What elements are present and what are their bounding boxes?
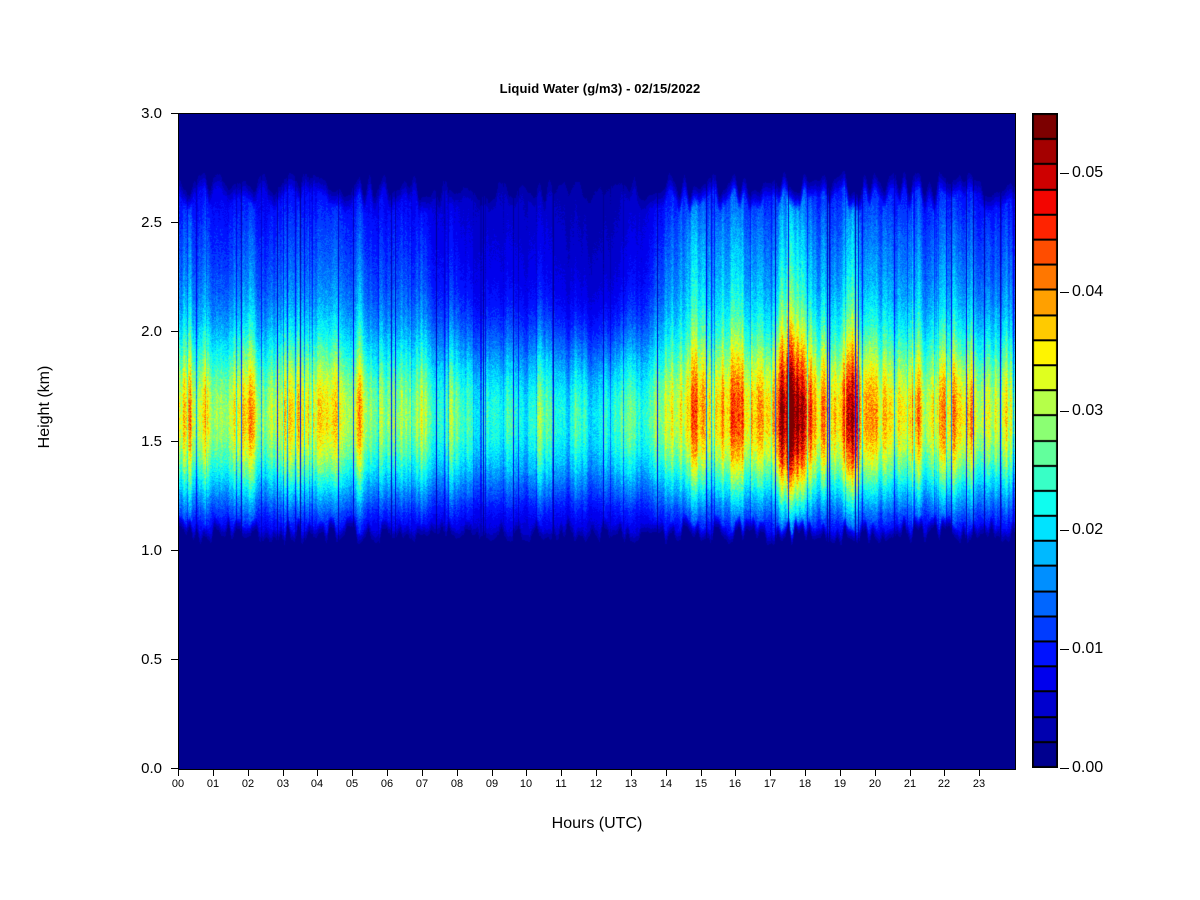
y-axis-tick-label: 0.5: [118, 652, 162, 667]
x-axis-tick: [561, 769, 562, 776]
x-axis-tick-label: 04: [300, 779, 334, 790]
y-axis-tick: [171, 331, 178, 332]
colorbar-tick-label: 0.00: [1072, 760, 1103, 776]
x-axis-tick: [317, 769, 318, 776]
x-axis-tick-label: 16: [718, 779, 752, 790]
colorbar-tick-label: 0.01: [1072, 641, 1103, 657]
x-axis-tick-label: 22: [927, 779, 961, 790]
y-axis-tick: [171, 441, 178, 442]
colorbar-tick: [1060, 292, 1069, 293]
x-axis-tick: [492, 769, 493, 776]
x-axis-title: Hours (UTC): [178, 815, 1016, 833]
x-axis-tick: [283, 769, 284, 776]
x-axis-tick: [840, 769, 841, 776]
x-axis-tick: [701, 769, 702, 776]
x-axis-tick: [735, 769, 736, 776]
x-axis-tick: [910, 769, 911, 776]
x-axis-tick: [387, 769, 388, 776]
x-axis-tick-label: 13: [614, 779, 648, 790]
y-axis-tick-label: 1.5: [118, 434, 162, 449]
colorbar-gradient: [1032, 113, 1058, 768]
x-axis-tick-label: 14: [649, 779, 683, 790]
x-axis-tick-label: 01: [196, 779, 230, 790]
colorbar-tick: [1060, 649, 1069, 650]
y-axis-tick-label: 3.0: [118, 106, 162, 121]
chart-canvas-root: Liquid Water (g/m3) - 02/15/2022 0.00.51…: [0, 0, 1200, 900]
x-axis-tick-label: 19: [823, 779, 857, 790]
x-axis-tick: [979, 769, 980, 776]
x-axis-tick: [666, 769, 667, 776]
heatmap-plot-area: [178, 113, 1016, 770]
x-axis-tick: [631, 769, 632, 776]
x-axis-tick-label: 00: [161, 779, 195, 790]
x-axis-tick: [770, 769, 771, 776]
x-axis-tick-label: 05: [335, 779, 369, 790]
x-axis-tick: [805, 769, 806, 776]
x-axis-tick-label: 02: [231, 779, 265, 790]
y-axis-tick-label: 0.0: [118, 761, 162, 776]
y-axis-tick: [171, 550, 178, 551]
x-axis-tick-label: 09: [475, 779, 509, 790]
colorbar: [1032, 113, 1058, 768]
y-axis-tick: [171, 659, 178, 660]
colorbar-tick-label: 0.05: [1072, 165, 1103, 181]
colorbar-tick: [1060, 768, 1069, 769]
x-axis-tick: [352, 769, 353, 776]
x-axis-tick: [248, 769, 249, 776]
x-axis-tick-label: 10: [509, 779, 543, 790]
x-axis-tick-label: 21: [893, 779, 927, 790]
x-axis-tick: [213, 769, 214, 776]
x-axis-tick-label: 06: [370, 779, 404, 790]
x-axis-tick-label: 15: [684, 779, 718, 790]
x-axis-tick: [178, 769, 179, 776]
x-axis-tick-label: 23: [962, 779, 996, 790]
x-axis-tick-label: 18: [788, 779, 822, 790]
x-axis-tick-label: 07: [405, 779, 439, 790]
x-axis-tick-label: 17: [753, 779, 787, 790]
x-axis-tick-label: 20: [858, 779, 892, 790]
y-axis-tick: [171, 222, 178, 223]
y-axis-tick: [171, 768, 178, 769]
x-axis-tick: [596, 769, 597, 776]
x-axis-tick: [944, 769, 945, 776]
colorbar-tick: [1060, 411, 1069, 412]
x-axis-tick: [875, 769, 876, 776]
y-axis-tick-label: 1.0: [118, 543, 162, 558]
y-axis-title: Height (km): [36, 317, 54, 497]
x-axis-tick: [457, 769, 458, 776]
x-axis-tick-label: 12: [579, 779, 613, 790]
heatmap-image: [179, 114, 1015, 769]
colorbar-tick-label: 0.04: [1072, 284, 1103, 300]
x-axis-tick: [526, 769, 527, 776]
y-axis-tick: [171, 113, 178, 114]
colorbar-tick: [1060, 173, 1069, 174]
colorbar-tick: [1060, 530, 1069, 531]
colorbar-tick-label: 0.02: [1072, 522, 1103, 538]
x-axis-tick-label: 11: [544, 779, 578, 790]
x-axis-tick: [422, 769, 423, 776]
x-axis-tick-label: 08: [440, 779, 474, 790]
y-axis-tick-label: 2.5: [118, 215, 162, 230]
x-axis-tick-label: 03: [266, 779, 300, 790]
chart-title: Liquid Water (g/m3) - 02/15/2022: [0, 81, 1200, 96]
y-axis-tick-label: 2.0: [118, 324, 162, 339]
colorbar-tick-label: 0.03: [1072, 403, 1103, 419]
